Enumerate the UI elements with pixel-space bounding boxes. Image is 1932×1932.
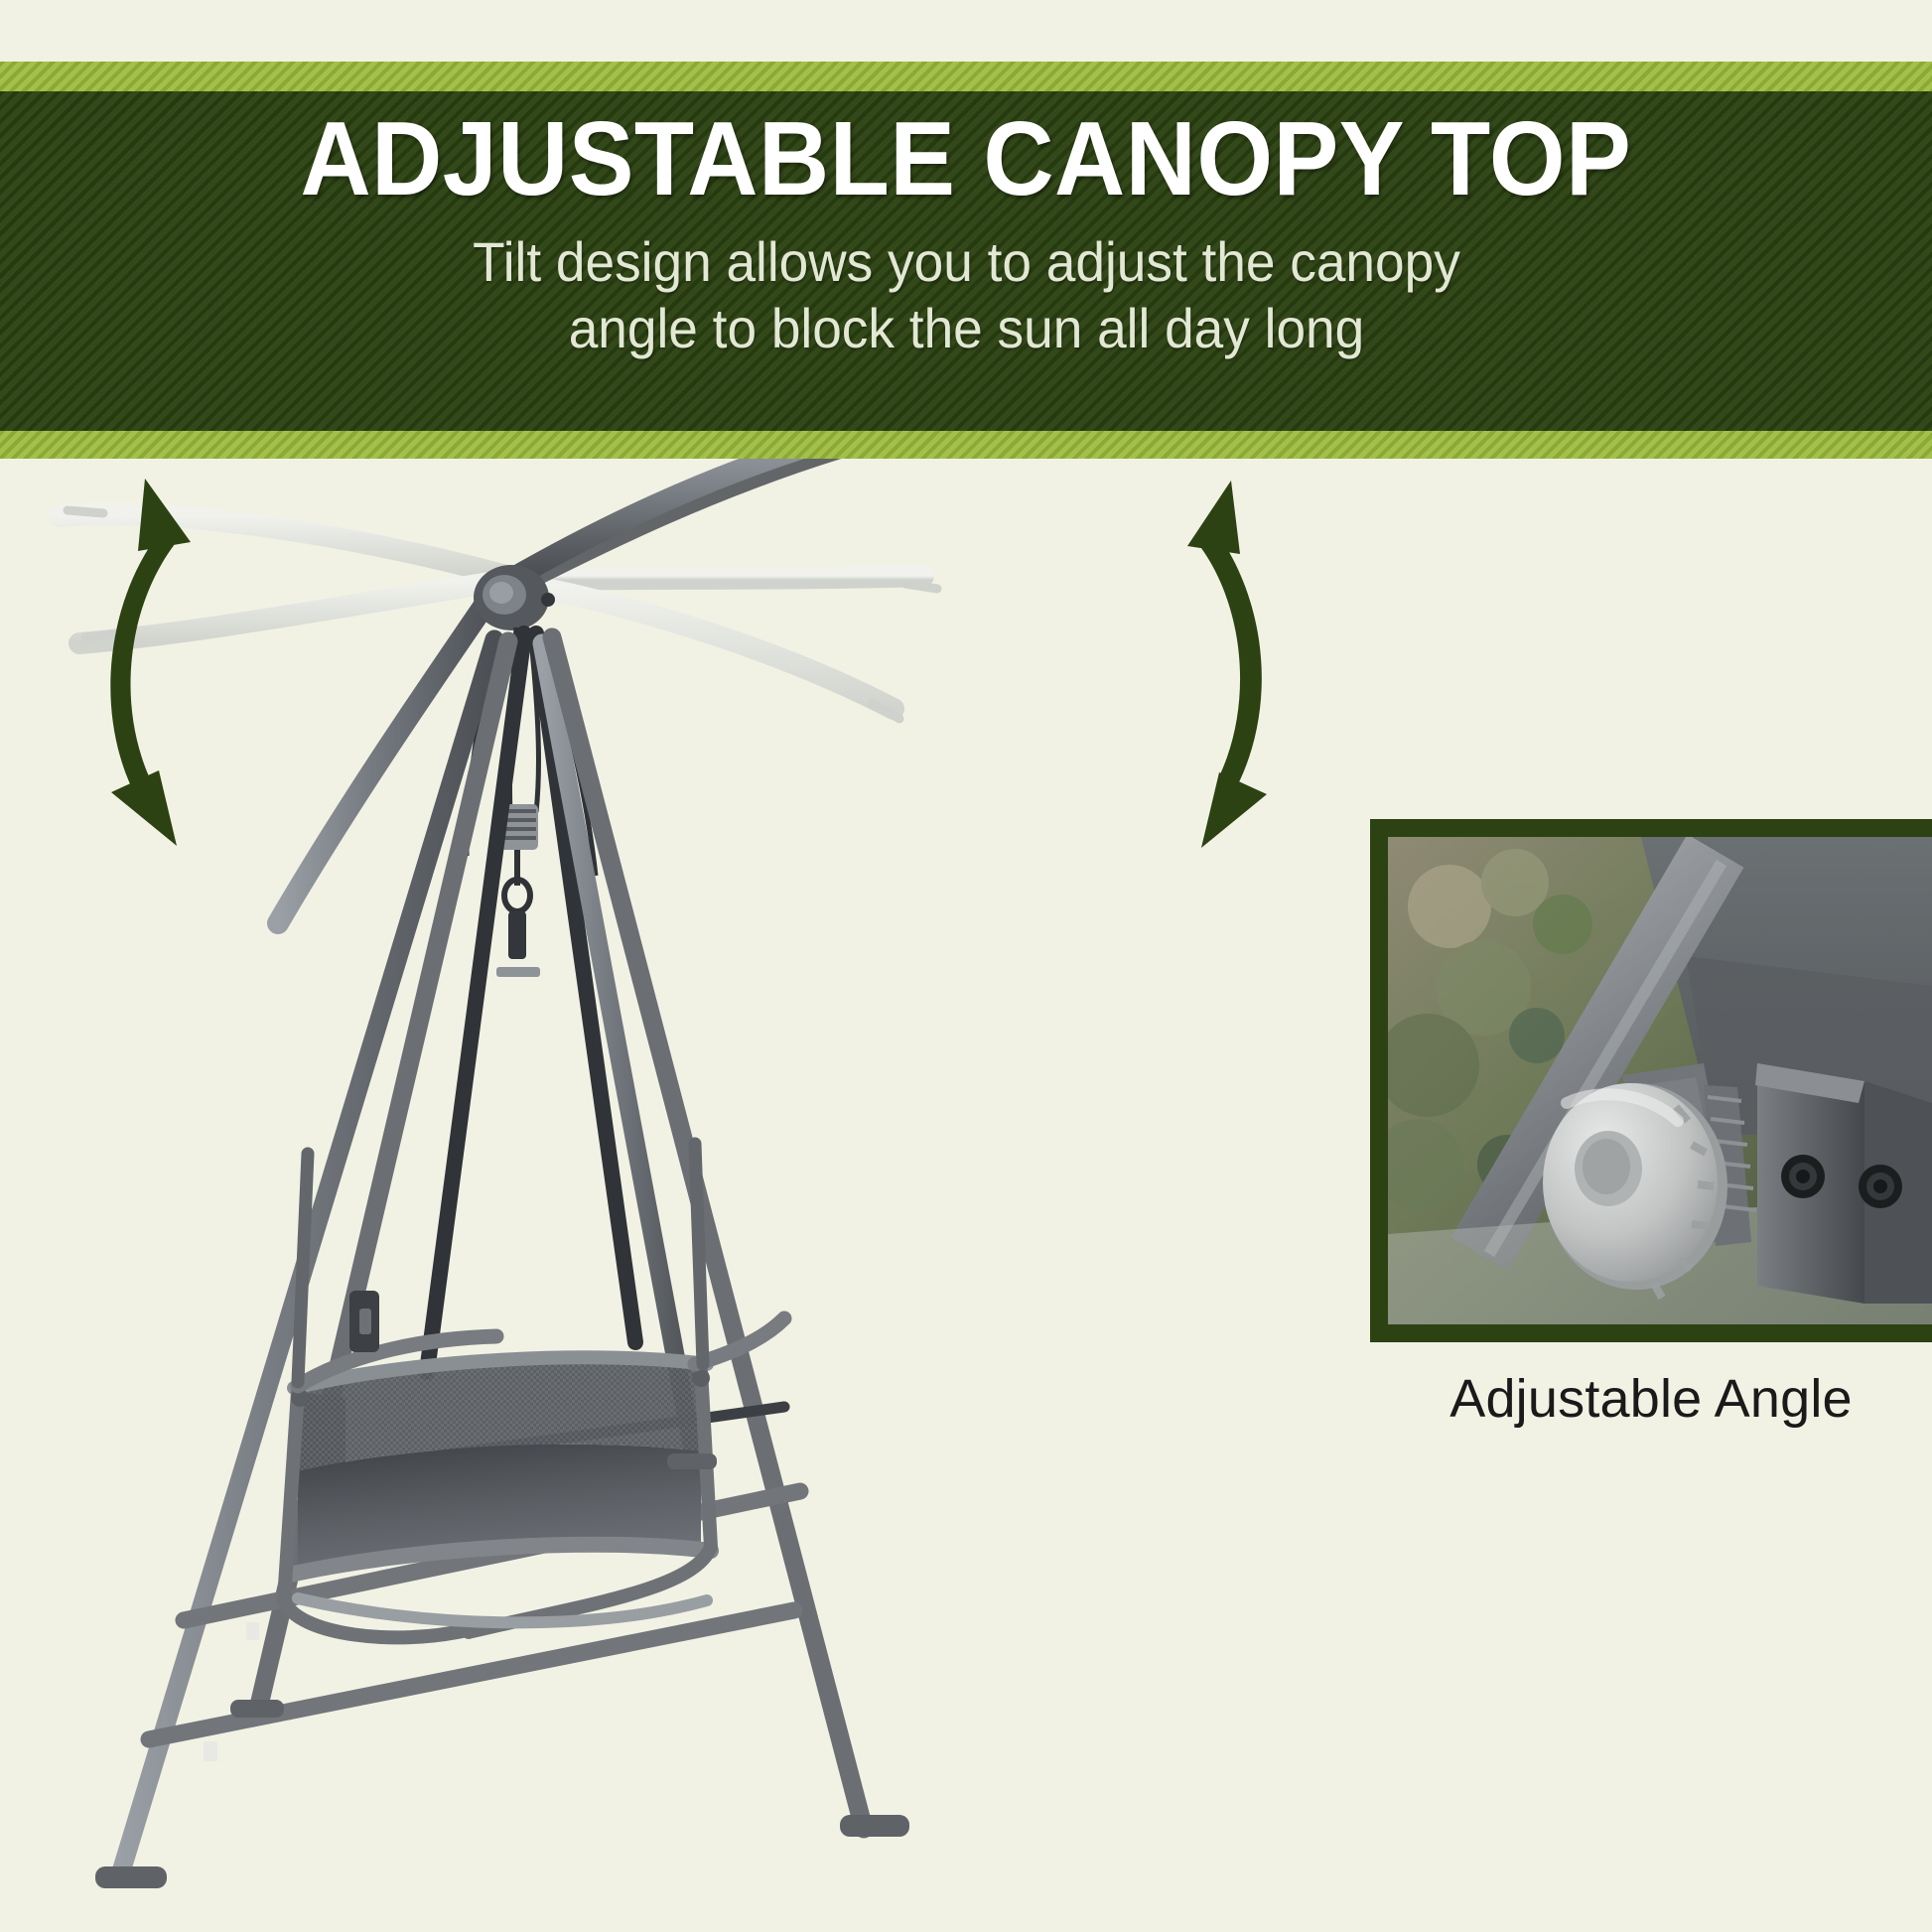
- inset-caption: Adjustable Angle: [1370, 1368, 1932, 1430]
- mounting-bracket: [1755, 1063, 1932, 1304]
- infographic-page: ADJUSTABLE CANOPY TOP Tilt design allows…: [0, 0, 1932, 1932]
- product-image: [0, 459, 1172, 1932]
- page-subtitle-line-2: angle to block the sun all day long: [473, 295, 1460, 361]
- banner-bottom-accent-stripe: [0, 431, 1932, 459]
- inset-detail-panel: [1370, 819, 1932, 1342]
- page-subtitle: Tilt design allows you to adjust the can…: [473, 228, 1460, 361]
- banner-top-accent-stripe: [0, 62, 1932, 91]
- page-title: ADJUSTABLE CANOPY TOP: [301, 105, 1632, 212]
- tilt-range-arrow-right: [1187, 481, 1267, 848]
- swing-seat: [284, 1357, 711, 1637]
- banner-body: ADJUSTABLE CANOPY TOP Tilt design allows…: [0, 91, 1932, 431]
- page-subtitle-line-1: Tilt design allows you to adjust the can…: [473, 228, 1460, 295]
- header-banner: ADJUSTABLE CANOPY TOP Tilt design allows…: [0, 62, 1932, 459]
- adjustment-knob-photo: [1388, 837, 1932, 1324]
